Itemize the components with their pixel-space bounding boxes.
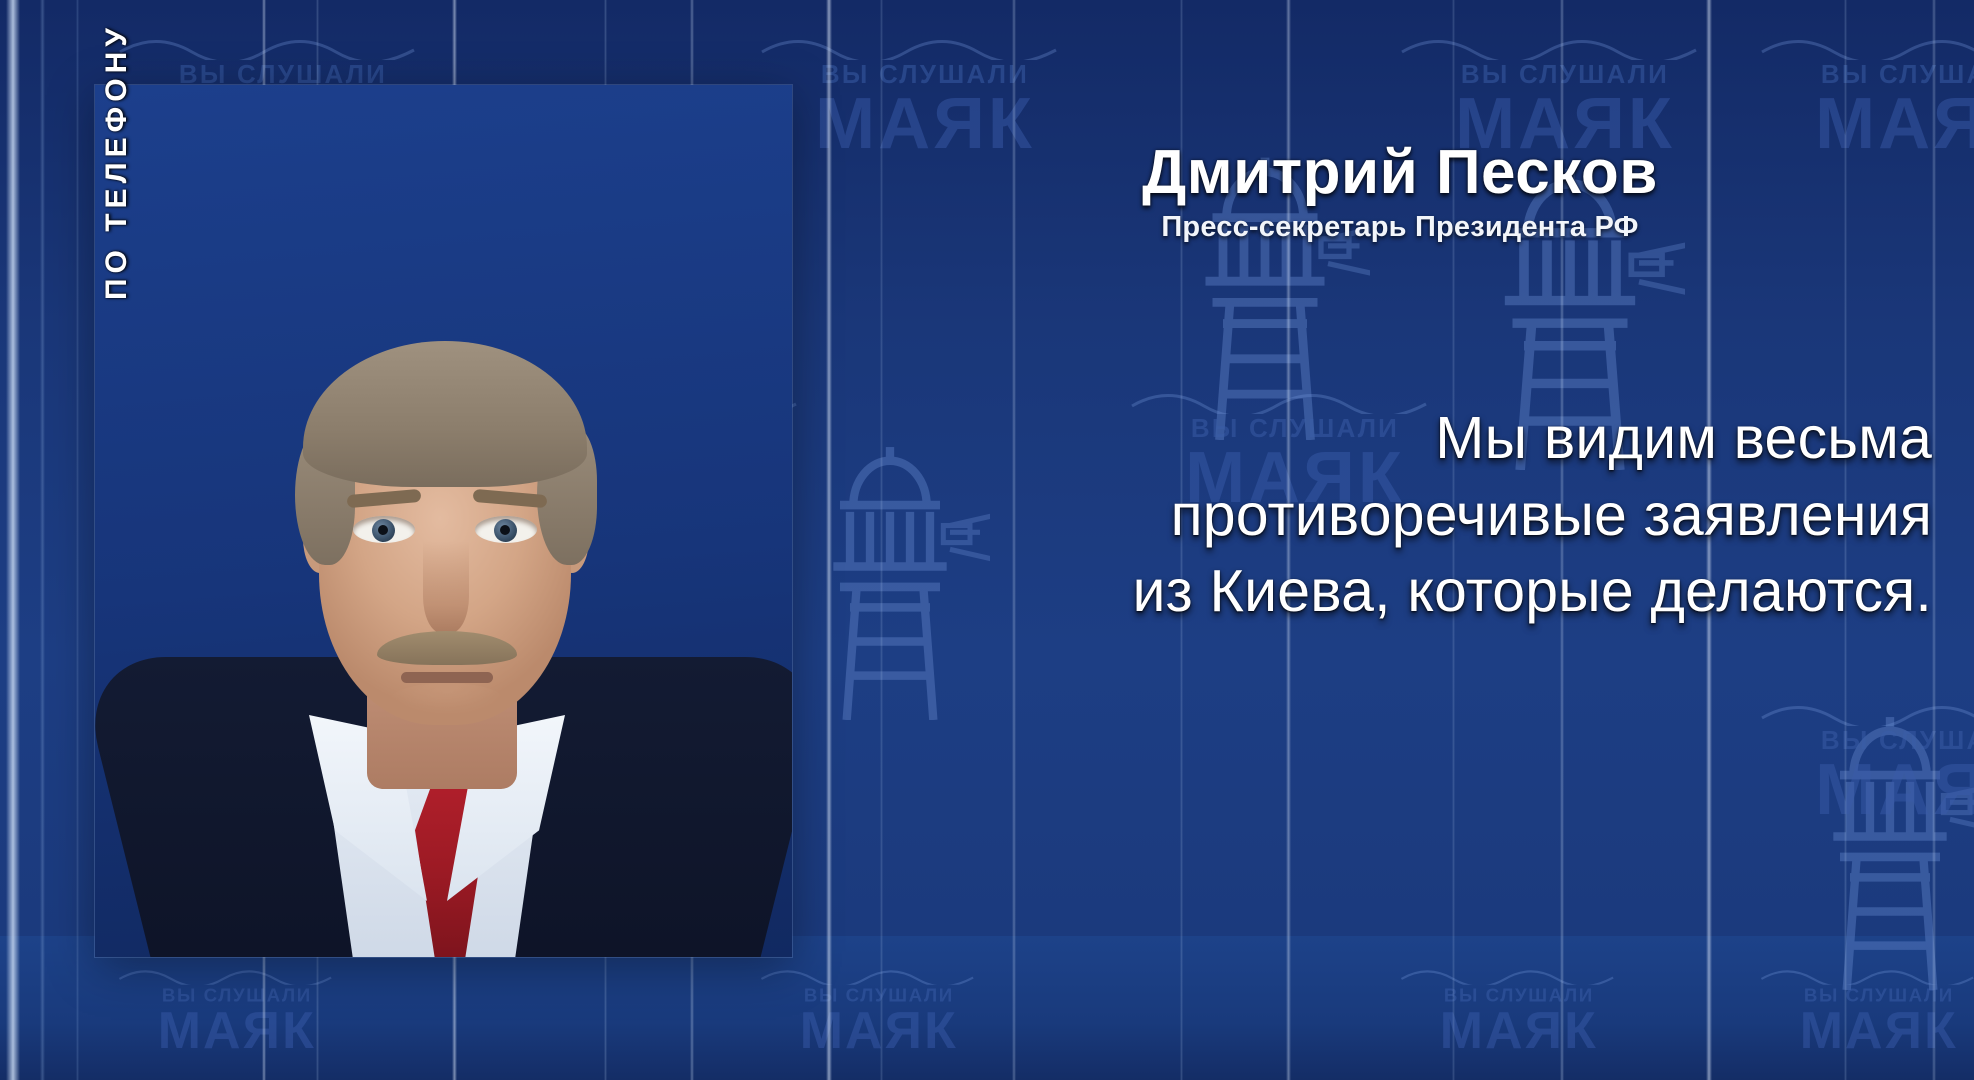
quote-line: противоречивые заявления — [832, 477, 1932, 554]
light-streak — [76, 0, 79, 1080]
eye-left — [353, 516, 415, 543]
speaker-name: Дмитрий Песков — [860, 140, 1940, 205]
mouth — [401, 672, 493, 683]
speaker-identification: Дмитрий Песков Пресс-секретарь Президент… — [860, 140, 1940, 244]
broadcast-graphic: ВЫ СЛУШАЛИМАЯКВЫ СЛУШАЛИМАЯКВЫ СЛУШАЛИМА… — [0, 0, 1974, 1080]
quote-line: из Киева, которые делаются. — [832, 553, 1932, 630]
light-streak — [6, 0, 20, 1080]
eye-right — [475, 516, 537, 543]
source-tag-by-phone: ПО ТЕЛЕФОНУ — [100, 23, 134, 300]
speaker-portrait — [95, 85, 792, 957]
nose — [423, 541, 469, 633]
speaker-photo-card: ВЫ СЛУШАЛИ МАЯК — [95, 85, 792, 957]
speaker-role: Пресс-секретарь Президента РФ — [860, 211, 1940, 244]
quote-line: Мы видим весьма — [832, 400, 1932, 477]
quote-text: Мы видим весьмапротиворечивые заявленияи… — [832, 400, 1932, 630]
chin — [389, 683, 505, 719]
iris-left — [372, 519, 395, 542]
iris-right — [494, 519, 517, 542]
light-streak — [40, 0, 45, 1080]
